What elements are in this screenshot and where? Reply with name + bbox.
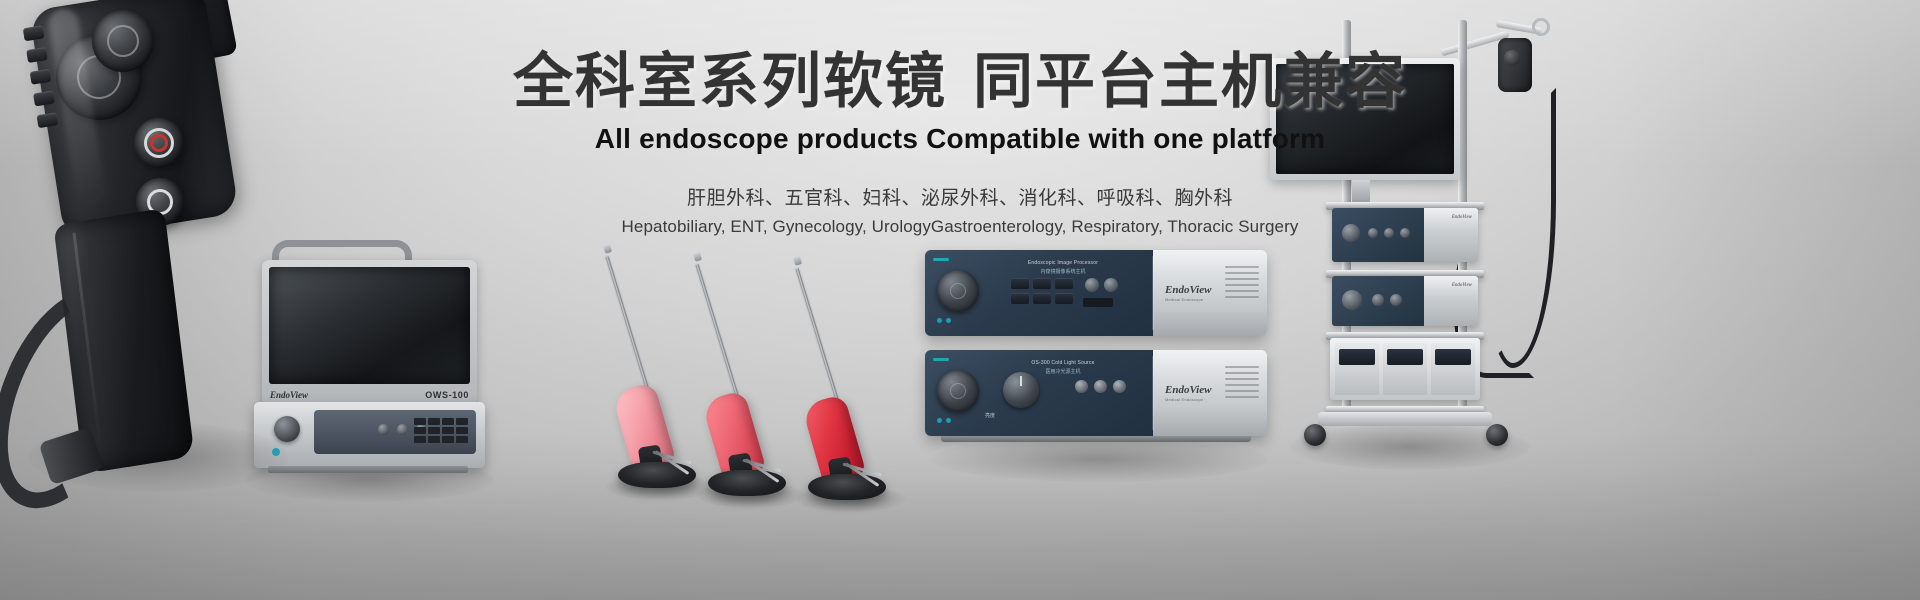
title-cn-part1: 全科室系列软镜	[513, 48, 947, 115]
processor-panel-title: Endoscopic Image Processor 内窥镜摄像系统主机	[1003, 260, 1123, 275]
processor-brand-block: EndoView Medical Endoscope	[1165, 284, 1211, 302]
product-banner: EndoView OWS-100	[0, 0, 1920, 600]
instrument-jaw	[742, 464, 782, 486]
light-source-main-dial	[937, 370, 979, 412]
instrument-shaft	[696, 264, 743, 410]
departments-en: Hepatobiliary, ENT, Gynecology, UrologyG…	[0, 217, 1920, 237]
processor-title-cn: 内窥镜摄像系统主机	[1003, 268, 1123, 275]
instrument-jaw	[842, 468, 882, 490]
cart-caster-wheel	[1304, 424, 1326, 446]
image-processor-front-panel: Endoscopic Image Processor 内窥镜摄像系统主机	[925, 250, 1153, 336]
instrument-jaw	[652, 456, 692, 478]
processor-feet	[941, 436, 1251, 442]
processor-title-en: Endoscopic Image Processor	[1003, 260, 1123, 266]
banner-text-block: 全科室系列软镜同平台主机兼容 All endoscope products Co…	[0, 50, 1920, 237]
ows-control-panel	[314, 410, 476, 454]
processor-card-slot	[1083, 298, 1113, 307]
processor-indicator-dots	[937, 318, 951, 323]
light-source-brand-block: EndoView Medical Endoscope	[1165, 384, 1211, 402]
cart-base-plate	[1318, 412, 1492, 426]
page-subtitle: All endoscope products Compatible with o…	[0, 123, 1920, 155]
instrument-shaft	[796, 268, 843, 414]
light-source-unit: OS-300 Cold Light Source 医用冷光源主机 亮度 Endo…	[925, 350, 1267, 436]
instrument-tip	[603, 243, 612, 254]
cart-device-lower-panel	[1332, 276, 1424, 326]
processor-keypad	[1011, 278, 1073, 304]
light-source-side: EndoView Medical Endoscope	[1153, 350, 1267, 436]
light-source-accent-bar	[933, 358, 949, 361]
instrument-shaft	[606, 256, 653, 402]
light-source-front-panel: OS-300 Cold Light Source 医用冷光源主机 亮度	[925, 350, 1153, 436]
processor-accent-bar	[933, 258, 949, 261]
light-source-vent-grille	[1225, 366, 1259, 402]
light-source-brand-label: EndoView	[1165, 384, 1211, 396]
processor-stack: Endoscopic Image Processor 内窥镜摄像系统主机 End…	[925, 250, 1275, 465]
light-source-brightness-knob	[1003, 372, 1039, 408]
list-item	[790, 262, 930, 502]
cart-caster-wheel	[1486, 424, 1508, 446]
image-processor-unit: Endoscopic Image Processor 内窥镜摄像系统主机 End…	[925, 250, 1267, 336]
ows-keypad	[414, 418, 468, 443]
instrument-tip	[793, 255, 802, 266]
light-source-indicator-dots	[937, 418, 951, 423]
processor-brand-sub: Medical Endoscope	[1165, 297, 1211, 302]
processor-round-buttons	[1085, 278, 1118, 292]
light-source-button-row	[1075, 380, 1126, 393]
ows-model-label: OWS-100	[425, 390, 469, 400]
processor-brand-label: EndoView	[1165, 284, 1211, 296]
page-title: 全科室系列软镜同平台主机兼容	[0, 50, 1920, 114]
departments-cn: 肝胆外科、五官科、妇科、泌尿外科、消化科、呼吸科、胸外科	[0, 183, 1920, 210]
cart-device-lower-brand: EndoView	[1452, 283, 1472, 288]
cart-accessory-tray	[1330, 338, 1480, 400]
title-cn-part2: 同平台主机兼容	[973, 48, 1407, 115]
processor-vent-grille	[1225, 266, 1259, 302]
cart-device-lower: EndoView	[1332, 276, 1478, 326]
light-source-knob-label: 亮度	[985, 412, 995, 419]
image-processor-side: EndoView Medical Endoscope	[1153, 250, 1267, 336]
light-source-brand-sub: Medical Endoscope	[1165, 397, 1211, 402]
processor-main-dial	[937, 270, 979, 312]
light-source-title-en: OS-300 Cold Light Source	[1003, 360, 1123, 366]
